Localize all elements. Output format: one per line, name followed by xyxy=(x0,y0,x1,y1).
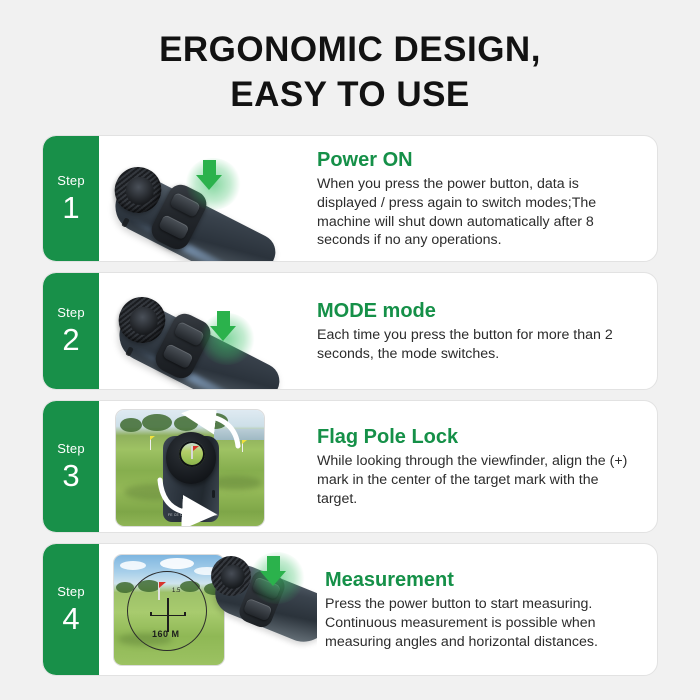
step-card-3: Step 3 xyxy=(42,400,658,533)
step-badge-word-4: Step xyxy=(57,585,85,598)
step-card-1: Step 1 Power ON When you press xyxy=(42,135,658,262)
step-heading-2: MODE mode xyxy=(317,299,635,323)
page-title: ERGONOMIC DESIGN, EASY TO USE xyxy=(0,0,700,118)
viewfinder-photo: 1.5 160 M xyxy=(113,554,225,666)
step-badge-4: Step 4 xyxy=(43,544,99,675)
step-illustration-3: FE CE Class 1 Laser Product xyxy=(99,401,309,532)
step-illustration-4: 1.5 160 M xyxy=(99,544,317,675)
title-line-2: EASY TO USE xyxy=(0,73,700,118)
step-badge-3: Step 3 xyxy=(43,401,99,532)
step-badge-1: Step 1 xyxy=(43,136,99,261)
step-heading-1: Power ON xyxy=(317,148,635,172)
step-card-2: Step 2 MODE mode Each time you xyxy=(42,272,658,390)
step-body-3: While looking through the viewfinder, al… xyxy=(317,452,635,508)
viewfinder-distance-readout: 160 M xyxy=(152,629,180,639)
rotation-arrows-icon xyxy=(116,410,265,527)
step-badge-word-3: Step xyxy=(57,442,85,455)
step-badge-2: Step 2 xyxy=(43,273,99,389)
rangefinder-illustration-2 xyxy=(99,273,309,389)
step-illustration-1 xyxy=(99,136,309,261)
step-body-1: When you press the power button, data is… xyxy=(317,175,635,250)
step-heading-3: Flag Pole Lock xyxy=(317,425,635,449)
step-badge-word-2: Step xyxy=(57,306,85,319)
step-body-2: Each time you press the button for more … xyxy=(317,326,635,363)
step-text-4: Measurement Press the power button to st… xyxy=(317,544,657,675)
step-text-2: MODE mode Each time you press the button… xyxy=(309,273,657,389)
step-heading-4: Measurement xyxy=(325,568,635,592)
viewfinder-angle-readout: 1.5 xyxy=(172,588,180,594)
step-badge-number-3: 3 xyxy=(62,460,79,491)
mode-button-icon xyxy=(162,343,194,369)
step-badge-number-4: 4 xyxy=(62,603,79,634)
mode-button-icon xyxy=(158,214,190,240)
step-text-3: Flag Pole Lock While looking through the… xyxy=(309,401,657,532)
step-badge-number-1: 1 xyxy=(62,192,79,223)
crosshair-vertical-icon xyxy=(167,598,169,632)
step-body-4: Press the power button to start measurin… xyxy=(325,595,635,651)
rangefinder-illustration-1 xyxy=(99,136,309,261)
step-text-1: Power ON When you press the power button… xyxy=(309,136,657,261)
steps-list: Step 1 Power ON When you press xyxy=(0,135,700,676)
step-badge-word-1: Step xyxy=(57,174,85,187)
title-line-1: ERGONOMIC DESIGN, xyxy=(0,28,700,73)
golf-course-photo: FE CE Class 1 Laser Product xyxy=(115,409,265,527)
step-badge-number-2: 2 xyxy=(62,324,79,355)
viewfinder-reticle: 1.5 160 M xyxy=(127,571,207,651)
step-illustration-2 xyxy=(99,273,309,389)
step-card-4: Step 4 xyxy=(42,543,658,676)
